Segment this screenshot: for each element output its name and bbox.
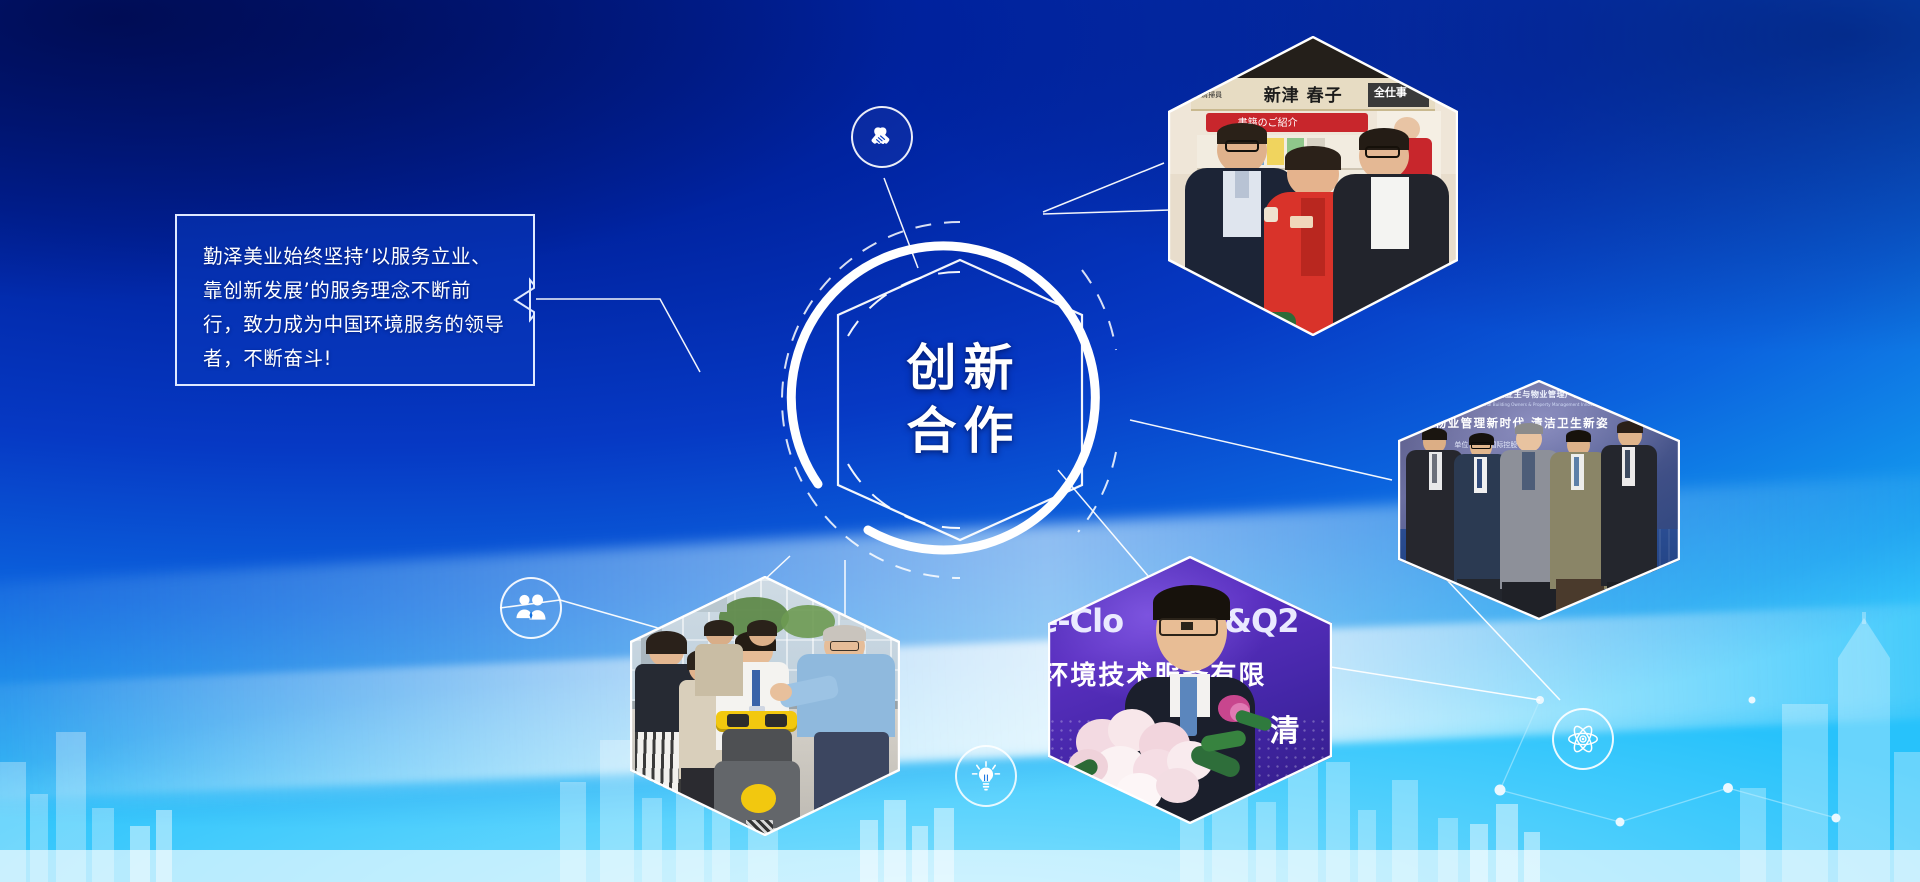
central-hub: 创新 合作: [760, 200, 1160, 600]
lightbulb-glyph: [969, 759, 1003, 793]
photo1-badge-text: 全仕事: [1374, 84, 1407, 100]
banner-canvas: 勤泽美业始终坚持‘以服务立业、 靠创新发展’的服务理念不断前 行，致力成为中国环…: [0, 0, 1920, 882]
two-people-glyph: [515, 593, 547, 623]
quote-line-2: 靠创新发展’的服务理念不断前: [203, 274, 503, 308]
lightbulb-icon[interactable]: [955, 745, 1017, 807]
quote-line-4: 者，不断奋斗!: [203, 342, 503, 376]
quote-line-3: 行，致力成为中国环境服务的领导: [203, 308, 503, 342]
two-people-icon[interactable]: [500, 577, 562, 639]
photo1-banner-name: 新津 春子: [1264, 81, 1343, 106]
quote-box: 勤泽美业始终坚持‘以服务立业、 靠创新发展’的服务理念不断前 行，致力成为中国环…: [175, 214, 535, 386]
quote-line-1: 勤泽美业始终坚持‘以服务立业、: [203, 240, 503, 274]
atom-glyph: [1565, 721, 1601, 757]
handshake-heart-glyph: [865, 120, 899, 154]
quote-text: 勤泽美业始终坚持‘以服务立业、 靠创新发展’的服务理念不断前 行，致力成为中国环…: [203, 240, 503, 376]
hub-rings: [760, 200, 1160, 600]
atom-icon[interactable]: [1552, 708, 1614, 770]
handshake-heart-icon[interactable]: [851, 106, 913, 168]
photo3-backdrop-en2: &Q2: [1224, 602, 1298, 640]
